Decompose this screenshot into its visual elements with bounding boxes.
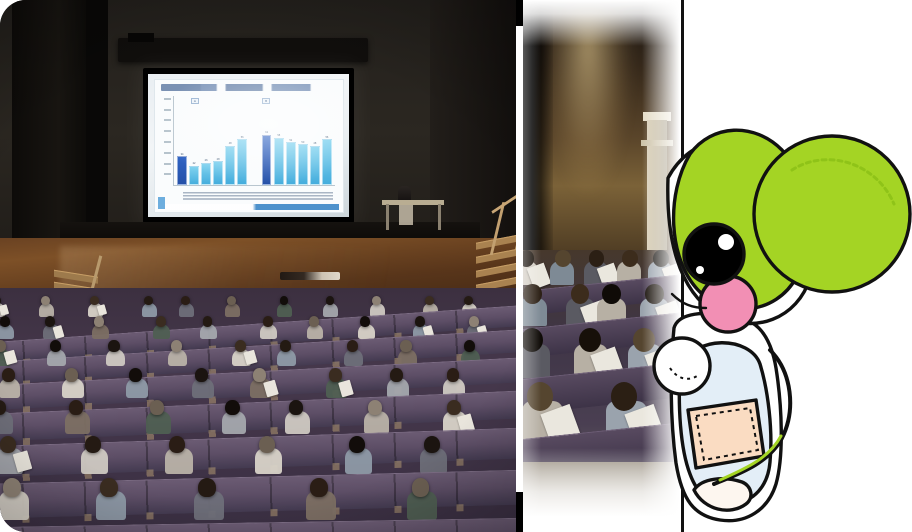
audience-member-head <box>108 340 119 352</box>
audience-member-head <box>347 340 358 352</box>
audience-member-head <box>225 400 239 415</box>
audience-member-head <box>50 340 61 352</box>
audience-member-head <box>100 478 118 497</box>
audience-member-head <box>169 436 185 453</box>
closeup-member-head <box>611 382 637 411</box>
mascot-eye-highlight <box>718 234 734 250</box>
audience-member-head <box>259 436 275 453</box>
mascot-eye-highlight-small <box>696 266 704 274</box>
audience-member-head <box>181 296 190 305</box>
audience-member-head <box>195 368 208 382</box>
audience-member-head <box>329 368 342 382</box>
audience-member-head <box>309 316 319 327</box>
audience-member-head <box>464 296 473 305</box>
audience-member-head <box>150 400 164 415</box>
mascot-eye <box>684 224 744 284</box>
audience-member-head <box>372 296 381 305</box>
closeup-member-head <box>555 250 570 267</box>
audience-member-head <box>3 478 21 497</box>
audience-member-head <box>360 316 370 327</box>
proscenium-beam-notch <box>128 33 154 42</box>
audience-member-head <box>0 316 10 327</box>
audience-member-head <box>310 478 328 497</box>
projection-screen-frame: A B 342226284856625852504856 <box>143 68 354 223</box>
audience-member-head <box>171 340 182 352</box>
audience-member-head <box>424 436 440 453</box>
audience-member-head <box>280 340 291 352</box>
audience-member-head <box>390 368 403 382</box>
presenter-table-top <box>382 200 444 205</box>
audience-member-head <box>412 478 430 497</box>
audience-member-head <box>235 340 246 352</box>
audience-member-head <box>198 478 216 497</box>
green-mouse-mascot <box>650 118 912 532</box>
audience-member-head <box>227 296 236 305</box>
audience-member-head <box>129 368 142 382</box>
projection-screen-surface: A B 342226284856625852504856 <box>148 74 349 217</box>
audience-member-head <box>349 436 365 453</box>
mascot-paw <box>654 338 710 394</box>
audience-member-head <box>425 296 434 305</box>
auditorium-wide-photo: A B 342226284856625852504856 <box>0 0 516 532</box>
audience-member-head <box>65 368 78 382</box>
audience-member-head <box>0 436 16 453</box>
audience-member-head <box>415 316 425 327</box>
audience-member-head <box>90 296 99 305</box>
presenter-table-leg-right <box>438 204 441 230</box>
audience-member-head <box>368 400 382 415</box>
audience-member-head <box>253 368 266 382</box>
audience-member-head <box>203 316 213 327</box>
photo-collage-canvas: A B 342226284856625852504856 <box>0 0 912 532</box>
audience-member-head <box>2 368 15 382</box>
audience-member-head <box>85 436 101 453</box>
audience-member-head <box>94 316 104 327</box>
audience-member-head <box>400 340 411 352</box>
audience-seating-area <box>0 288 516 532</box>
audience-member-head <box>69 400 83 415</box>
closeup-left-fade <box>523 0 541 532</box>
audience-member-head <box>469 316 479 327</box>
closeup-member-head <box>622 250 637 267</box>
audience-member-head <box>447 368 460 382</box>
presenter-table-panel <box>399 205 413 225</box>
audience-member-head <box>156 316 166 327</box>
presenter-table-leg-left <box>386 204 389 230</box>
stage-floor-object <box>280 272 340 280</box>
audience-member-head <box>464 340 475 352</box>
audience-member-head <box>447 400 461 415</box>
audience-member-head <box>45 316 55 327</box>
closeup-member-head <box>602 284 621 304</box>
screen-glare <box>148 74 349 217</box>
audience-member-head <box>0 340 6 352</box>
proscenium-beam <box>118 38 368 62</box>
audience-member-head <box>263 316 273 327</box>
